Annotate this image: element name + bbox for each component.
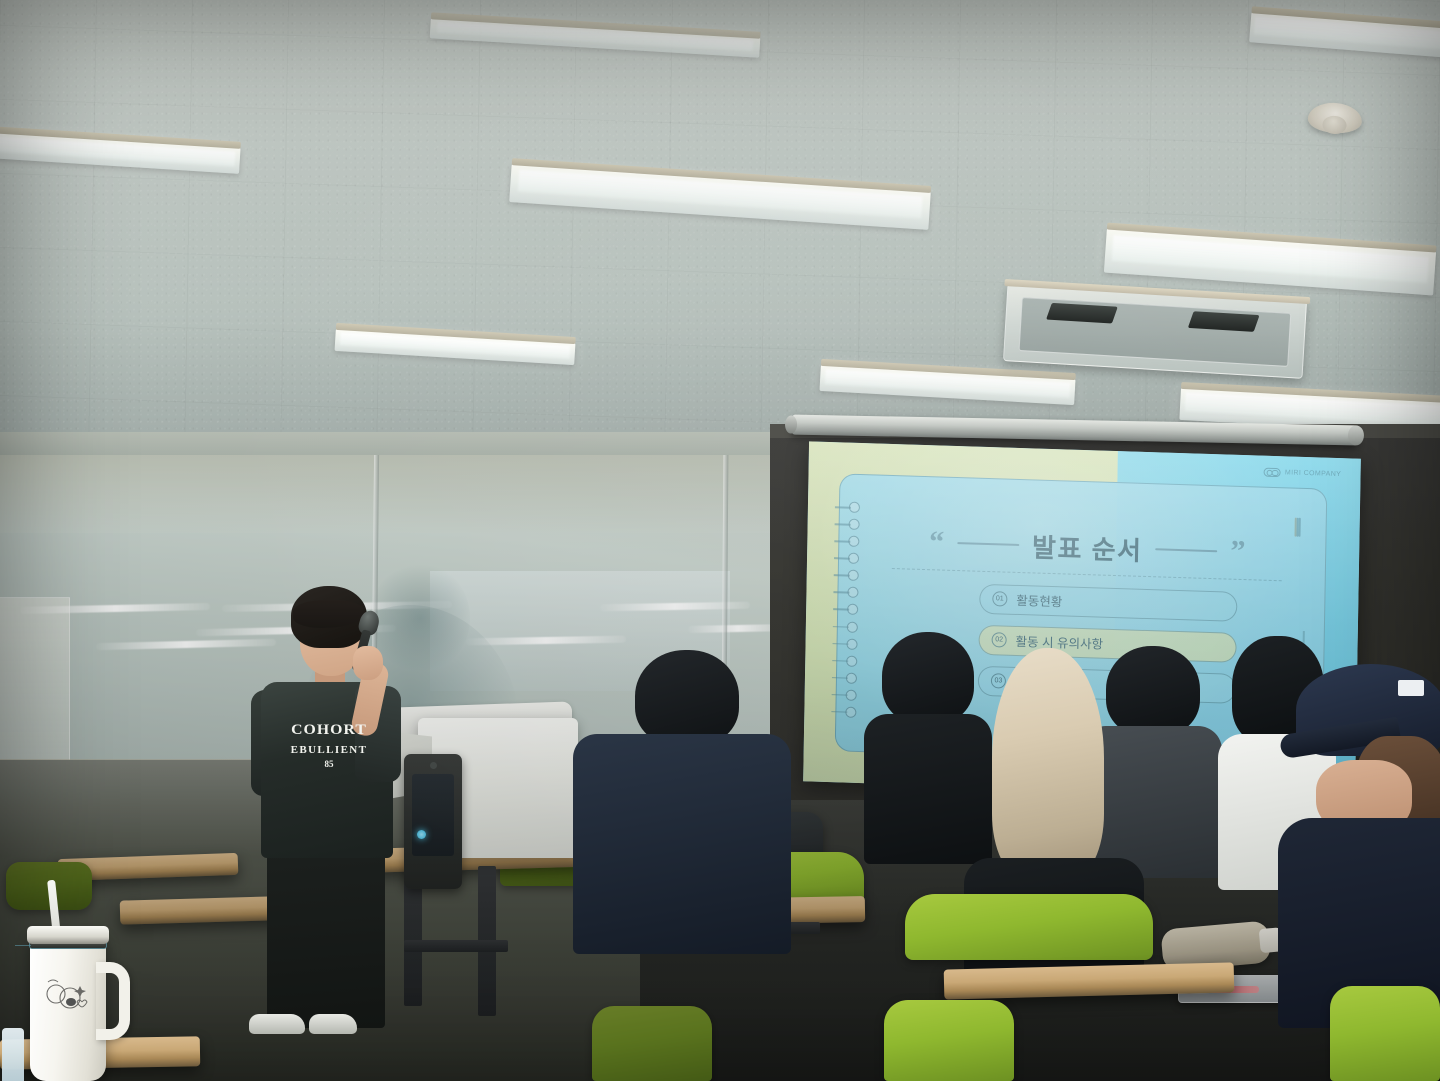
notebook-ring [845,689,856,700]
notebook-ring [846,655,857,666]
agenda-item: 01활동현황 [979,584,1237,622]
audience-member-cap [1278,640,1440,1020]
notebook-ring [847,587,858,598]
title-rule-left [957,542,1019,546]
power-led-icon [417,830,426,839]
podium-control-kiosk[interactable] [404,754,462,889]
character-doodle-icon [40,972,90,1016]
chair[interactable] [1330,986,1440,1081]
tumbler-lid [27,926,109,944]
notebook-ring [849,502,860,513]
tumbler[interactable] [18,906,134,1081]
shoe [249,1014,305,1034]
notebook-ring [846,638,857,649]
agenda-item-number: 02 [991,632,1006,647]
notebook-ring [847,570,858,581]
notebook-ring [848,536,859,547]
agenda-item-number: 01 [992,591,1007,606]
bookmark-tab [1298,518,1300,537]
notebook-ring [848,519,859,530]
notebook-ring [847,621,858,632]
shoe [309,1014,357,1034]
desk-frame [404,940,508,952]
agenda-item-label: 활동현황 [1016,590,1062,610]
notebook-ring [845,706,856,717]
smoke-detector-icon [1307,101,1363,135]
title-rule-right [1155,548,1217,552]
presenter: COHORT EBULLIENT 85 [243,586,403,1036]
camera-icon [430,762,437,769]
quote-open-icon: “ [929,533,944,551]
notebook-ring [847,604,858,615]
slide-bookmark-tabs [1294,519,1320,538]
classroom-photo-scene: MIRI COMPANY “ 발표 순서 ” 01활동현황02활동 시 유의사항… [0,0,1440,1081]
logo-mark-icon [1264,467,1281,477]
chair[interactable] [905,894,1153,960]
kiosk-screen[interactable] [412,774,454,856]
chair[interactable] [592,1006,712,1081]
small-bottle[interactable] [2,1028,24,1081]
tumbler-handle [96,962,130,1040]
notebook-ring [846,672,857,683]
chair[interactable] [884,1000,1014,1081]
notebook-ring [848,553,859,564]
logo-text: MIRI COMPANY [1285,469,1342,478]
slide-title: 발표 순서 [1032,527,1143,567]
slide-divider [892,568,1281,581]
slide-title-row: “ 발표 순서 ” [888,523,1287,573]
audience-member [573,650,791,950]
quote-close-icon: ” [1230,543,1245,561]
